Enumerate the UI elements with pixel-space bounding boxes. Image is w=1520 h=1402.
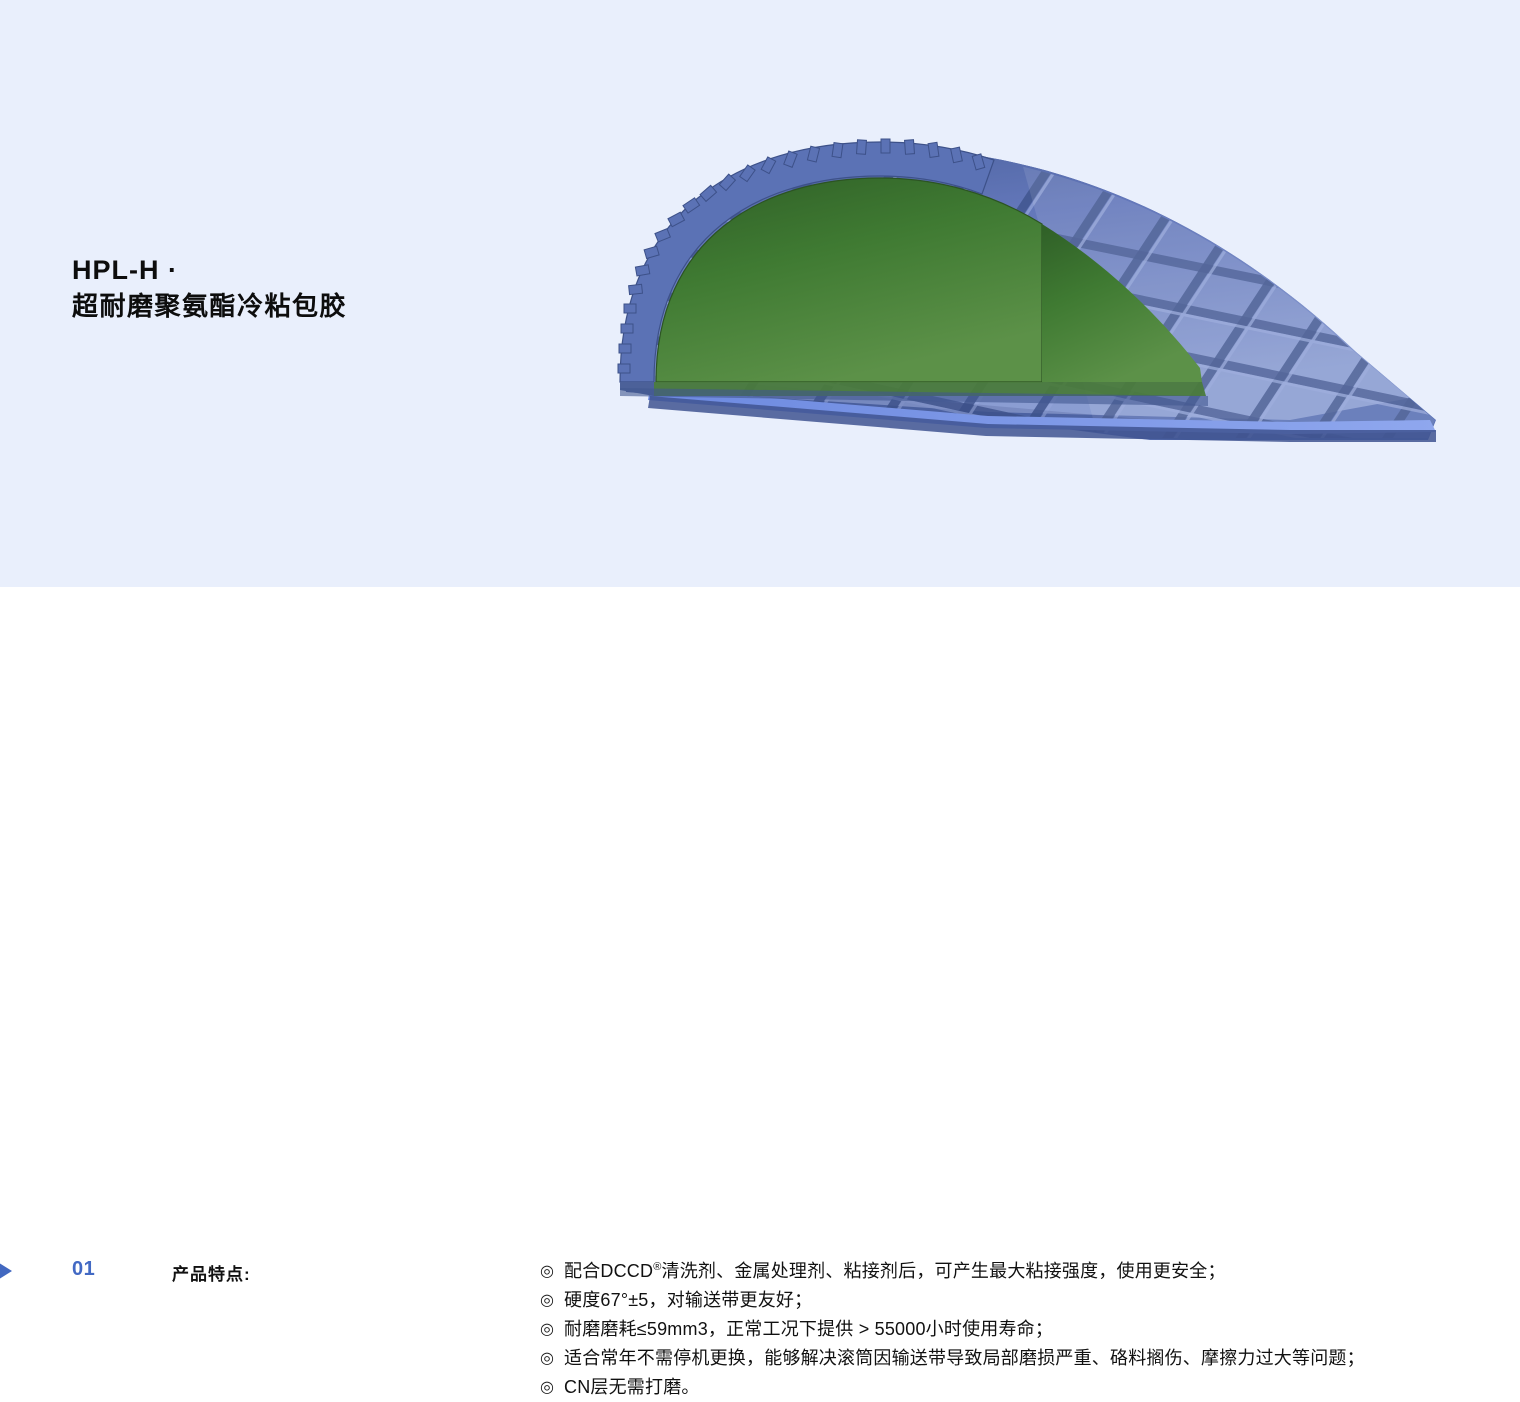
feature-text: 硬度67°±5，对输送带更友好； — [564, 1286, 1500, 1315]
triangle-marker-icon — [0, 1261, 12, 1281]
page-title-line-2: 超耐磨聚氨酯冷粘包胶 — [72, 288, 347, 324]
product-detail-page: HPL-H · 超耐磨聚氨酯冷粘包胶 — [0, 0, 1520, 850]
hero-section: HPL-H · 超耐磨聚氨酯冷粘包胶 — [0, 0, 1520, 587]
bullet-circle-icon: ◎ — [540, 1344, 564, 1373]
feature-text: 适合常年不需停机更换，能够解决滚筒因输送带导致局部磨损严重、硌料搁伤、摩擦力过大… — [564, 1344, 1500, 1373]
product-image — [590, 120, 1470, 480]
registered-trademark-icon: ® — [653, 1261, 661, 1273]
bullet-circle-icon: ◎ — [540, 1315, 564, 1344]
bullet-circle-icon: ◎ — [540, 1286, 564, 1315]
feature-text: CN层无需打磨。 — [564, 1373, 1500, 1402]
pulley-lagging-illustration — [590, 120, 1470, 480]
section-number: 01 — [72, 1258, 95, 1281]
list-item: ◎ 硬度67°±5，对输送带更友好； — [540, 1286, 1500, 1315]
page-title: HPL-H · 超耐磨聚氨酯冷粘包胶 — [72, 252, 347, 324]
bullet-circle-icon: ◎ — [540, 1373, 564, 1402]
list-item: ◎ 配合DCCD®清洗剂、金属处理剂、粘接剂后，可产生最大粘接强度，使用更安全； — [540, 1257, 1500, 1286]
page-title-line-1: HPL-H · — [72, 252, 347, 288]
list-item: ◎ CN层无需打磨。 — [540, 1373, 1500, 1402]
product-features-section: 01 产品特点: ◎ 配合DCCD®清洗剂、金属处理剂、粘接剂后，可产生最大粘接… — [0, 613, 1520, 850]
list-item: ◎ 适合常年不需停机更换，能够解决滚筒因输送带导致局部磨损严重、硌料搁伤、摩擦力… — [540, 1344, 1500, 1373]
section-label: 产品特点: — [172, 1260, 251, 1285]
feature-text: 耐磨磨耗≤59mm3，正常工况下提供 > 55000小时使用寿命； — [564, 1315, 1500, 1344]
feature-list: ◎ 配合DCCD®清洗剂、金属处理剂、粘接剂后，可产生最大粘接强度，使用更安全；… — [540, 1257, 1500, 1402]
list-item: ◎ 耐磨磨耗≤59mm3，正常工况下提供 > 55000小时使用寿命； — [540, 1315, 1500, 1344]
bullet-circle-icon: ◎ — [540, 1257, 564, 1286]
feature-text: 配合DCCD®清洗剂、金属处理剂、粘接剂后，可产生最大粘接强度，使用更安全； — [564, 1257, 1500, 1286]
